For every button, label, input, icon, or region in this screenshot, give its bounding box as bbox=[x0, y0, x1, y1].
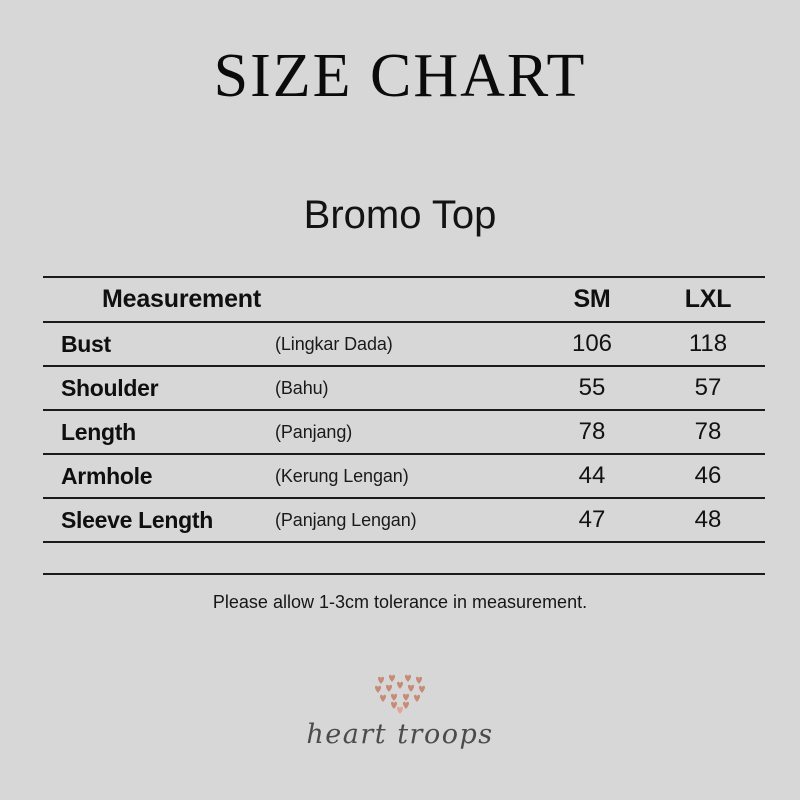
row-translation: (Panjang Lengan) bbox=[275, 498, 533, 542]
row-value-lxl: 57 bbox=[651, 366, 765, 410]
size-chart-page: SIZE CHART Bromo Top Measurement SM LXL … bbox=[0, 0, 800, 800]
size-table-container: Measurement SM LXL Bust (Lingkar Dada) 1… bbox=[43, 276, 765, 575]
row-value-sm: 47 bbox=[533, 498, 651, 542]
table-row: Armhole (Kerung Lengan) 44 46 bbox=[43, 454, 765, 498]
table-spacer-row bbox=[43, 542, 765, 574]
row-label: Shoulder bbox=[43, 366, 275, 410]
table-row: Length (Panjang) 78 78 bbox=[43, 410, 765, 454]
product-name: Bromo Top bbox=[0, 190, 800, 240]
row-translation: (Bahu) bbox=[275, 366, 533, 410]
table-row: Sleeve Length (Panjang Lengan) 47 48 bbox=[43, 498, 765, 542]
row-value-lxl: 48 bbox=[651, 498, 765, 542]
page-title: SIZE CHART bbox=[0, 40, 800, 112]
row-value-sm: 78 bbox=[533, 410, 651, 454]
row-translation: (Kerung Lengan) bbox=[275, 454, 533, 498]
row-label: Bust bbox=[43, 322, 275, 366]
row-value-sm: 106 bbox=[533, 322, 651, 366]
row-translation: (Lingkar Dada) bbox=[275, 322, 533, 366]
heart-cluster-icon bbox=[370, 672, 430, 716]
row-label: Armhole bbox=[43, 454, 275, 498]
size-table: Measurement SM LXL Bust (Lingkar Dada) 1… bbox=[43, 276, 765, 575]
tolerance-note: Please allow 1-3cm tolerance in measurem… bbox=[0, 592, 800, 613]
row-value-sm: 55 bbox=[533, 366, 651, 410]
column-header-measurement: Measurement bbox=[43, 277, 275, 322]
row-value-sm: 44 bbox=[533, 454, 651, 498]
row-label: Length bbox=[43, 410, 275, 454]
spacer-cell bbox=[43, 542, 275, 574]
spacer-cell bbox=[275, 542, 533, 574]
column-header-translation bbox=[275, 277, 533, 322]
table-header-row: Measurement SM LXL bbox=[43, 277, 765, 322]
column-header-sm: SM bbox=[533, 277, 651, 322]
row-label: Sleeve Length bbox=[43, 498, 275, 542]
row-value-lxl: 78 bbox=[651, 410, 765, 454]
table-row: Shoulder (Bahu) 55 57 bbox=[43, 366, 765, 410]
brand-wordmark: heart troops bbox=[0, 720, 800, 750]
row-value-lxl: 118 bbox=[651, 322, 765, 366]
table-row: Bust (Lingkar Dada) 106 118 bbox=[43, 322, 765, 366]
column-header-lxl: LXL bbox=[651, 277, 765, 322]
row-translation: (Panjang) bbox=[275, 410, 533, 454]
row-value-lxl: 46 bbox=[651, 454, 765, 498]
spacer-cell bbox=[533, 542, 651, 574]
brand-logo: heart troops bbox=[0, 672, 800, 750]
spacer-cell bbox=[651, 542, 765, 574]
